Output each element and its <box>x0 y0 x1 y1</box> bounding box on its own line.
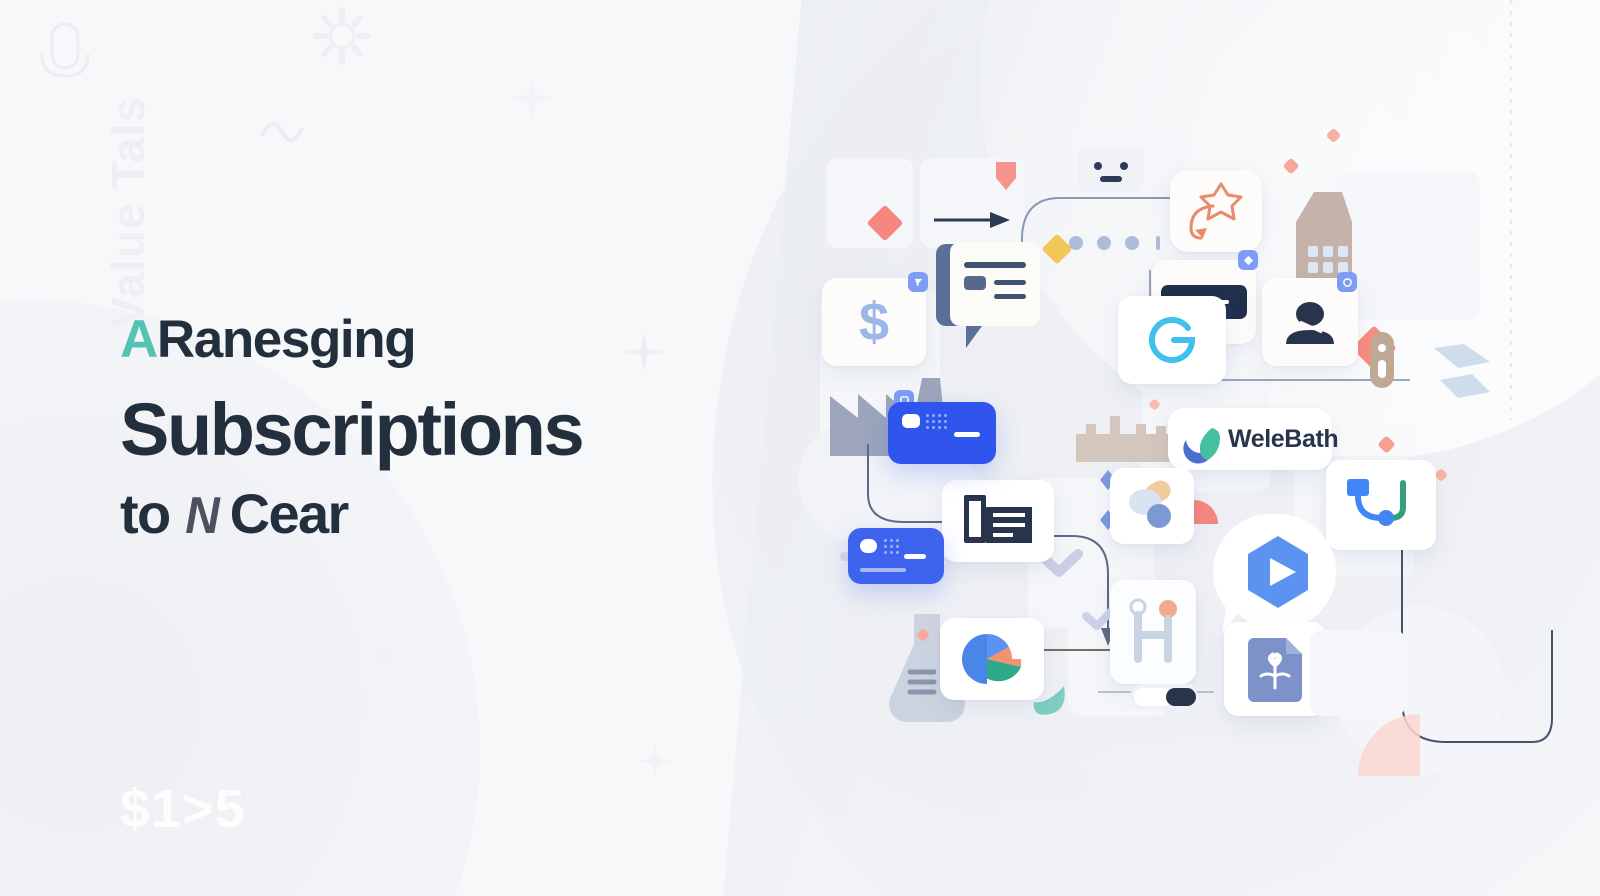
credit-card-primary[interactable] <box>888 402 996 464</box>
welebath-logo-card[interactable]: WeleBath <box>1168 408 1332 470</box>
g-logo-card[interactable] <box>1118 296 1226 384</box>
dark-bar-card-badge[interactable] <box>1238 250 1258 270</box>
hero-canvas: Value Tals $1>5 ARanesging Subscriptions… <box>0 0 1600 896</box>
svg-text:$: $ <box>859 292 889 352</box>
user-avatar-icon <box>1282 298 1338 346</box>
dollar-card-badge[interactable] <box>908 272 928 292</box>
toggle-switch[interactable] <box>1128 680 1202 714</box>
headline-line-3: toNCear <box>120 484 740 544</box>
folder-document-icon <box>1244 636 1306 702</box>
squiggle-watermark-icon <box>258 108 306 148</box>
ghost-frame-a <box>826 158 914 248</box>
coral-quarter-circle <box>1358 710 1428 780</box>
g-circle-logo-icon <box>1144 312 1200 368</box>
chat-card[interactable] <box>932 242 1036 346</box>
credit-card-bar-3 <box>860 568 906 572</box>
shooting-star-icon <box>1185 182 1247 240</box>
chat-bubble-icon <box>932 242 1044 368</box>
credit-card-bar <box>954 432 980 437</box>
credit-card-chip <box>902 414 920 428</box>
gear-watermark-icon <box>312 6 372 66</box>
node-graph-icon <box>1343 477 1419 533</box>
document-chart-card[interactable] <box>942 480 1054 562</box>
letter-h-icon <box>1126 599 1180 665</box>
price-watermark-text: $1>5 <box>120 778 246 840</box>
headline-line-1: ARanesging <box>120 312 740 368</box>
pill-shapes-card[interactable] <box>1110 468 1194 544</box>
coral-diamond-small-b <box>1326 128 1342 144</box>
face-chip-decor <box>1076 146 1146 194</box>
welebath-logo-label: WeleBath <box>1228 425 1338 454</box>
headline-line-3-prefix: to <box>120 484 170 544</box>
letter-h-card[interactable] <box>1110 580 1196 684</box>
credit-card-dotgrid-2 <box>884 539 899 554</box>
shooting-star-card[interactable] <box>1170 170 1262 252</box>
microphone-watermark-icon <box>30 18 100 98</box>
headline-line-3-rest: Cear <box>230 484 348 544</box>
plus-small-watermark-icon <box>636 742 674 780</box>
abstract-shapes-icon <box>1125 480 1179 532</box>
dot-watermark-icon <box>376 648 396 668</box>
badge-glyph-icon <box>913 277 924 288</box>
pie-chart-icon <box>959 631 1025 687</box>
badge-glyph-icon-3 <box>1243 255 1254 266</box>
vertical-watermark-text: Value Tals <box>104 96 152 328</box>
illustration-cluster: $ <box>780 110 1520 760</box>
connector-arrow-small-left <box>932 208 1014 232</box>
credit-card-bar-2 <box>904 554 926 559</box>
ghost-card-behind-folder <box>1310 630 1406 716</box>
headline-accent-letter: A <box>120 310 157 369</box>
coral-pin-icon <box>992 158 1020 192</box>
credit-card-dotgrid <box>926 414 947 429</box>
pie-chart-card[interactable] <box>940 618 1044 700</box>
document-chart-icon <box>964 495 1032 547</box>
headline-line-2: Subscriptions <box>120 390 740 470</box>
welebath-logo-icon <box>1182 420 1218 458</box>
headline-n-glyph: N <box>172 488 227 544</box>
hero-headline: ARanesging Subscriptions toNCear <box>120 312 740 544</box>
avatar-card-badge[interactable] <box>1337 272 1357 292</box>
arrow-chevrons-decor <box>1430 340 1494 416</box>
headline-line-1-rest: Ranesging <box>157 310 415 369</box>
play-card[interactable] <box>1212 510 1336 634</box>
info-pill-decor <box>1366 328 1398 392</box>
credit-card-secondary[interactable] <box>848 528 944 584</box>
dollar-icon: $ <box>852 293 896 351</box>
sparkle-watermark-icon <box>508 74 556 122</box>
badge-glyph-icon-4 <box>1342 277 1353 288</box>
credit-card-chip-2 <box>860 539 877 553</box>
coral-diamond-small-a <box>1283 158 1300 175</box>
dot-row-decor <box>1066 232 1186 254</box>
